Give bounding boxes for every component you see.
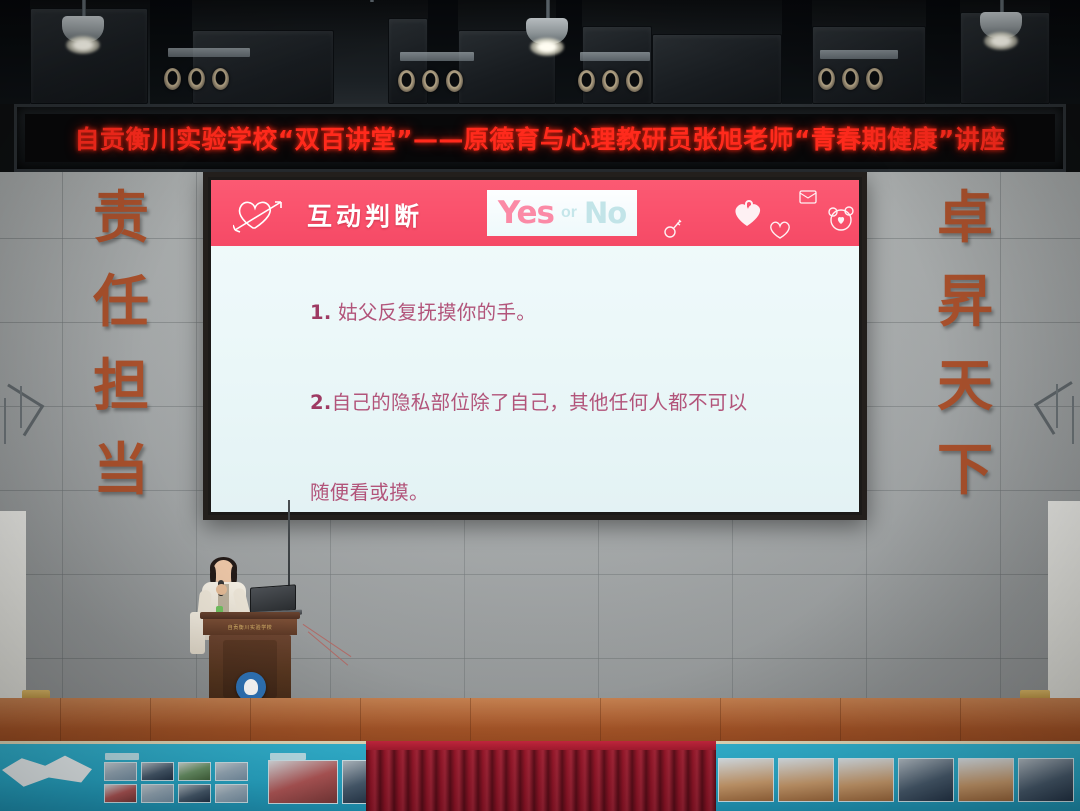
calligraphy-char: 担 — [78, 344, 164, 418]
podium-nameplate-text: 自贡衡川实验学校 — [228, 624, 273, 631]
board-photo — [178, 784, 211, 803]
stage-skirt — [366, 741, 716, 811]
led-banner-screen: 自贡衡川实验学校“双百讲堂”——原德育与心理教研员张旭老师“青春期健康”讲座 — [25, 114, 1055, 162]
board-photo — [178, 762, 211, 781]
teddy-bear-icon — [827, 206, 857, 234]
board-photo — [838, 758, 894, 802]
board-photo — [215, 762, 248, 781]
speaker-array — [652, 34, 782, 104]
slide-header: 互动判断 Yes or No — [211, 180, 859, 246]
speaker-array — [582, 26, 652, 104]
podium-nameplate: 自贡衡川实验学校 — [203, 619, 297, 635]
led-banner-text: 自贡衡川实验学校“双百讲堂”——原德育与心理教研员张旭老师“青春期健康”讲座 — [75, 120, 1006, 156]
board-photo — [104, 784, 137, 803]
board-photo — [141, 762, 174, 781]
ribbon-graphic — [2, 754, 92, 796]
auditorium-scene: 自贡衡川实验学校“双百讲堂”——原德育与心理教研员张旭老师“青春期健康”讲座 责… — [0, 0, 1080, 811]
wall-calligraphy-right: 卓 昇 天 下 — [922, 176, 1008, 512]
podium: 自贡衡川实验学校 — [200, 612, 300, 710]
speaker-array — [812, 26, 926, 104]
slide-item: 随便看或摸。 — [245, 448, 829, 512]
key-icon — [663, 218, 683, 240]
ceiling — [0, 0, 1080, 104]
board-photo — [268, 760, 338, 804]
slide-title: 互动判断 — [307, 197, 423, 233]
projection-screen: 互动判断 Yes or No — [211, 180, 859, 512]
calligraphy-char: 责 — [78, 176, 164, 250]
heart-lock-icon — [731, 198, 765, 228]
speaker-array — [192, 30, 334, 104]
presenter-hand — [216, 584, 227, 595]
slide-item-number: 1. — [310, 301, 332, 324]
calligraphy-char: 昇 — [922, 260, 1008, 334]
board-photo — [778, 758, 834, 802]
slide-item-text: 随便看或摸。 — [310, 481, 429, 504]
board-photo — [898, 758, 954, 802]
yes-label: Yes — [498, 195, 554, 231]
heart-with-arrow-icon — [233, 194, 291, 234]
board-photo — [104, 762, 137, 781]
board-photo — [215, 784, 248, 803]
slide-item: 2.自己的隐私部位除了自己，其他任何人都不可以 — [245, 358, 829, 448]
slide-body: 1. 姑父反复抚摸你的手。 2.自己的隐私部位除了自己，其他任何人都不可以 随便… — [211, 246, 859, 512]
board-photo — [718, 758, 774, 802]
projection-screen-frame: 互动判断 Yes or No — [203, 172, 867, 520]
envelope-icon — [799, 190, 817, 204]
slide-item-text: 姑父反复抚摸你的手。 — [332, 301, 537, 324]
board-photo — [1018, 758, 1074, 802]
slide-item-number: 2. — [310, 391, 332, 414]
wall-calligraphy-left: 责 任 担 当 — [78, 176, 164, 512]
calligraphy-char: 当 — [78, 428, 164, 502]
calligraphy-char: 天 — [922, 344, 1008, 418]
heart-icon — [767, 218, 793, 240]
slide-item-text: 自己的隐私部位除了自己，其他任何人都不可以 — [332, 391, 748, 414]
led-banner: 自贡衡川实验学校“双百讲堂”——原德育与心理教研员张旭老师“青春期健康”讲座 — [14, 104, 1066, 172]
or-label: or — [561, 204, 577, 222]
yes-or-no-badge: Yes or No — [487, 190, 637, 236]
slide-item: 1. 姑父反复抚摸你的手。 — [245, 268, 829, 358]
calligraphy-char: 下 — [922, 428, 1008, 502]
calligraphy-char: 卓 — [922, 176, 1008, 250]
board-photo — [141, 784, 174, 803]
board-section-title — [270, 753, 306, 760]
no-label: No — [584, 196, 626, 230]
calligraphy-char: 任 — [78, 260, 164, 334]
board-section-title — [105, 753, 139, 760]
board-photo — [958, 758, 1014, 802]
